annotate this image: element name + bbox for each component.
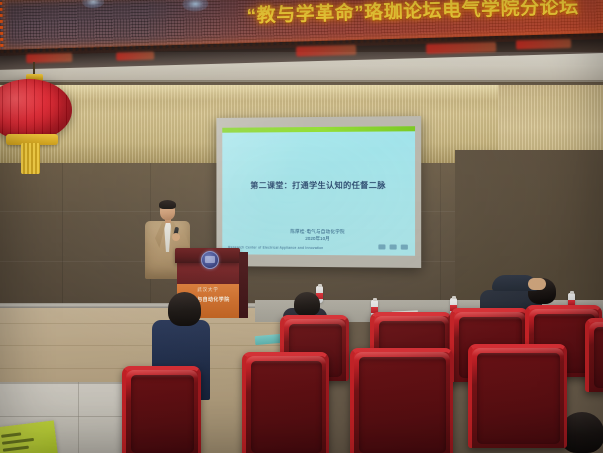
red-lantern-icon	[0, 79, 72, 141]
emblem-inner-shape	[205, 256, 215, 263]
auditorium-seat	[122, 366, 201, 453]
audience-person-hand	[528, 278, 546, 290]
speaker-hand	[172, 233, 180, 241]
wall-seam	[62, 163, 63, 313]
slide-logo-row	[378, 244, 408, 249]
slide-logo-icon	[401, 245, 408, 250]
podium-side-panel	[239, 252, 248, 318]
slide-date-line: 2020年10月	[222, 235, 415, 242]
wall-seam	[440, 163, 441, 313]
slide-logo-icon	[390, 244, 397, 249]
slide-accent-bar	[222, 126, 415, 133]
auditorium-seat	[468, 344, 567, 448]
presentation-slide: 第二课堂：打通学生认知的任督二脉 陈厚桂·电气与自动化学院 2020年10月 R…	[222, 126, 415, 256]
slide-footer-text: Research Center of Electrical Appliance …	[228, 245, 323, 250]
speaker-hair	[159, 200, 176, 209]
slide-presenter-line: 陈厚桂·电气与自动化学院	[222, 229, 415, 236]
auditorium-seat	[242, 352, 329, 453]
university-emblem-icon	[201, 251, 219, 269]
lantern-ribs	[0, 79, 72, 141]
projection-screen: 第二课堂：打通学生认知的任督二脉 陈厚桂·电气与自动化学院 2020年10月 R…	[216, 116, 421, 268]
slide-logo-icon	[378, 244, 385, 249]
lecture-hall-photo: “教与学革命”珞珈论坛电气学院分论坛 第二课堂：打通学生认知的任督二脉 陈厚桂·…	[0, 0, 603, 453]
slide-title: 第二课堂：打通学生认知的任督二脉	[222, 179, 415, 191]
auditorium-seat	[350, 348, 453, 453]
floor-sign	[0, 420, 58, 453]
audience-person-head	[168, 292, 201, 326]
audience-person-head	[294, 292, 320, 316]
lantern-tassel	[21, 143, 40, 174]
auditorium-seat	[585, 318, 603, 392]
